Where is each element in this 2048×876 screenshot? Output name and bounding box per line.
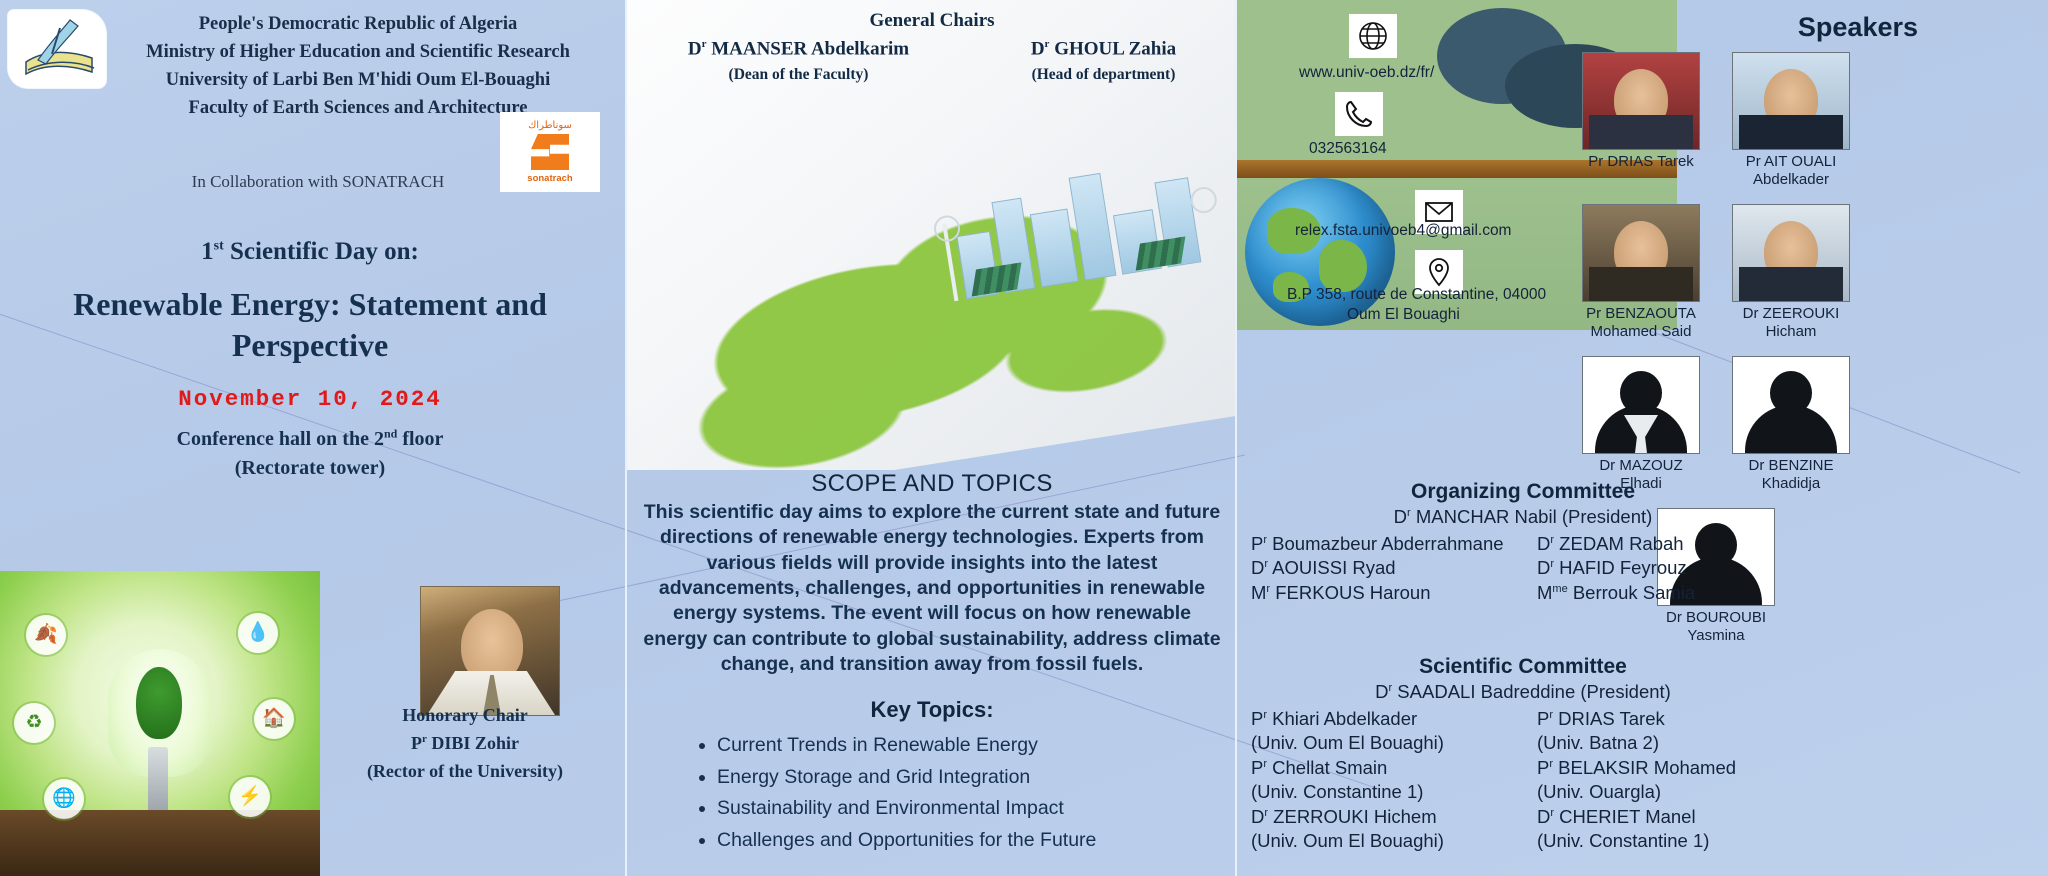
member-affiliation: (Univ. Oum El Bouaghi) bbox=[1251, 829, 1525, 853]
speaker-card[interactable]: Dr ZEEROUKI Hicham bbox=[1732, 204, 1850, 340]
sci-pres-prefix: D bbox=[1375, 681, 1388, 702]
avatar bbox=[1732, 356, 1850, 454]
avatar-body bbox=[1589, 115, 1693, 149]
wind-turbine-icon bbox=[1199, 195, 1213, 261]
portrait-photo bbox=[1733, 205, 1849, 301]
avatar bbox=[1582, 204, 1700, 302]
member-row: Pr BELAKSIR Mohamed bbox=[1537, 756, 1813, 780]
tree-icon bbox=[136, 667, 182, 739]
speaker-name: Pr AIT OUALI Abdelkader bbox=[1732, 153, 1850, 188]
chair-2-name: Dr GHOUL Zahia bbox=[1031, 38, 1176, 60]
member-row: Dr ZERROUKI Hichem bbox=[1251, 805, 1525, 829]
list-item: Energy Storage and Grid Integration bbox=[717, 762, 1227, 794]
speakers-title: Speakers bbox=[1798, 12, 1918, 43]
general-chairs-title: General Chairs bbox=[627, 10, 1237, 32]
avatar bbox=[1582, 356, 1700, 454]
building bbox=[1030, 208, 1079, 287]
title-line-1: Renewable Energy: Statement and bbox=[30, 284, 590, 325]
member-affiliation: (Univ. Batna 2) bbox=[1537, 731, 1813, 755]
middle-column: General Chairs Dr MAANSER Abdelkarim (De… bbox=[625, 0, 1235, 876]
member-row: Dr AOUISSI Ryad bbox=[1251, 556, 1525, 580]
address-line-2: Oum El Bouaghi bbox=[1347, 306, 1460, 324]
avatar-body bbox=[1739, 267, 1843, 301]
honorary-chair-name: Pr DIBI Zohir bbox=[300, 730, 630, 758]
speaker-name: Pr BENZAOUTA Mohamed Said bbox=[1582, 305, 1700, 340]
event-venue: Conference hall on the 2nd floor (Rector… bbox=[40, 425, 580, 483]
plug-icon: ⚡ bbox=[230, 777, 270, 817]
scientific-committee-title: Scientific Committee bbox=[1243, 655, 1803, 679]
member-affiliation: (Univ. Oum El Bouaghi) bbox=[1251, 731, 1525, 755]
speaker-card[interactable]: Dr MAZOUZ Elhadi bbox=[1582, 356, 1700, 492]
list-item: Sustainability and Environmental Impact bbox=[717, 793, 1227, 825]
venue-ordinal: nd bbox=[384, 426, 397, 440]
recycle-icon: ♻ bbox=[14, 703, 54, 743]
chair-1-name-text: MAANSER Abdelkarim bbox=[706, 38, 909, 59]
portrait-photo bbox=[1583, 53, 1699, 149]
day-ordinal-suffix: st bbox=[214, 239, 224, 254]
scientific-members-right: Pr DRIAS Tarek (Univ. Batna 2) Pr BELAKS… bbox=[1525, 707, 1813, 853]
header-line-3: University of Larbi Ben M'hidi Oum El-Bo… bbox=[108, 66, 608, 94]
organizing-members: Pr Boumazbeur Abderrahmane Dr AOUISSI Ry… bbox=[1237, 532, 1813, 605]
sonatrach-mark-icon bbox=[531, 134, 569, 170]
venue-line-1: Conference hall on the 2nd floor bbox=[40, 425, 580, 454]
chair-1-role: (Dean of the Faculty) bbox=[688, 66, 909, 84]
portrait-photo bbox=[1733, 53, 1849, 149]
honorary-chair-block: Honorary Chair Pr DIBI Zohir (Rector of … bbox=[300, 702, 630, 786]
collaboration-text: In Collaboration with SONATRACH bbox=[108, 172, 528, 192]
organizing-members-left: Pr Boumazbeur Abderrahmane Dr AOUISSI Ry… bbox=[1237, 532, 1525, 605]
conference-poster: People's Democratic Republic of Algeria … bbox=[0, 0, 2048, 876]
avatar-body bbox=[1589, 267, 1693, 301]
avatar bbox=[1582, 52, 1700, 150]
org-pres-prefix: D bbox=[1394, 506, 1407, 527]
landmass bbox=[1319, 240, 1367, 292]
honorary-chair-photo bbox=[420, 586, 560, 716]
list-item: Current Trends in Renewable Energy bbox=[717, 730, 1227, 762]
website-text[interactable]: www.univ-oeb.dz/fr/ bbox=[1299, 64, 1434, 82]
member-row: Dr CHERIET Manel bbox=[1537, 805, 1813, 829]
event-date: November 10, 2024 bbox=[40, 386, 580, 412]
chair-1-name: Dr MAANSER Abdelkarim bbox=[688, 38, 909, 60]
speaker-card[interactable]: Pr BENZAOUTA Mohamed Said bbox=[1582, 204, 1700, 340]
globe-icon bbox=[1349, 14, 1397, 58]
institution-header: People's Democratic Republic of Algeria … bbox=[108, 10, 608, 122]
key-topics-list: Current Trends in Renewable Energy Energ… bbox=[687, 730, 1227, 856]
general-chairs-row: Dr MAANSER Abdelkarim (Dean of the Facul… bbox=[627, 38, 1237, 84]
renewable-energy-illustration: 🍂 💧 ♻ 🏠 🌐 ⚡ bbox=[0, 571, 320, 876]
speaker-card[interactable]: Pr AIT OUALI Abdelkader bbox=[1732, 52, 1850, 188]
key-topics-title: Key Topics: bbox=[627, 697, 1237, 723]
general-chair-2: Dr GHOUL Zahia (Head of department) bbox=[1031, 38, 1176, 84]
right-column: www.univ-oeb.dz/fr/ 032563164 relex.fsta… bbox=[1235, 0, 2048, 876]
honorary-name-text: DIBI Zohir bbox=[427, 733, 519, 753]
honorary-chair-label: Honorary Chair bbox=[300, 702, 630, 730]
general-chair-1: Dr MAANSER Abdelkarim (Dean of the Facul… bbox=[688, 38, 909, 84]
page-title: Renewable Energy: Statement and Perspect… bbox=[30, 284, 590, 366]
day-text: Scientific Day on: bbox=[224, 238, 419, 265]
org-pres-name: MANCHAR Nabil (President) bbox=[1411, 506, 1653, 527]
member-row: Dr ZEDAM Rabah bbox=[1537, 532, 1813, 556]
header-line-1: People's Democratic Republic of Algeria bbox=[108, 10, 608, 38]
chair-2-role: (Head of department) bbox=[1031, 66, 1176, 84]
scope-body: This scientific day aims to explore the … bbox=[641, 500, 1223, 677]
venue-suffix: floor bbox=[397, 428, 443, 450]
list-item: Challenges and Opportunities for the Fut… bbox=[717, 825, 1227, 857]
chair-2-name-text: GHOUL Zahia bbox=[1049, 38, 1176, 59]
honorary-chair-role: (Rector of the University) bbox=[300, 758, 630, 786]
bulb-stem bbox=[148, 747, 168, 815]
email-text[interactable]: relex.fsta.univoeb4@gmail.com bbox=[1295, 222, 1511, 240]
scope-title: SCOPE AND TOPICS bbox=[627, 470, 1237, 498]
droplet-icon: 💧 bbox=[238, 613, 278, 653]
organizing-members-right: Dr ZEDAM Rabah Dr HAFID Feyrouz Mme Berr… bbox=[1525, 532, 1813, 605]
member-row: Pr Boumazbeur Abderrahmane bbox=[1251, 532, 1525, 556]
day-number: 1 bbox=[201, 238, 214, 265]
globe-icon: 🌐 bbox=[44, 779, 84, 819]
member-row: Pr Chellat Smain bbox=[1251, 756, 1525, 780]
speaker-card[interactable]: Dr BENZINE Khadidja bbox=[1732, 356, 1850, 492]
member-row: Mr FERKOUS Haroun bbox=[1251, 581, 1525, 605]
left-column: People's Democratic Republic of Algeria … bbox=[0, 0, 625, 876]
header-line-2: Ministry of Higher Education and Scienti… bbox=[108, 38, 608, 66]
scientific-members: Pr Khiari Abdelkader (Univ. Oum El Bouag… bbox=[1237, 707, 1813, 853]
sci-pres-name: SAADALI Badreddine (President) bbox=[1392, 681, 1671, 702]
avatar bbox=[1732, 52, 1850, 150]
chair-1-prefix: D bbox=[688, 38, 702, 59]
speaker-name: Dr BOUROUBI Yasmina bbox=[1657, 609, 1775, 644]
member-row: Dr HAFID Feyrouz bbox=[1537, 556, 1813, 580]
sonatrach-arabic: سوناطراك bbox=[528, 120, 572, 131]
phone-icon bbox=[1335, 92, 1383, 136]
sonatrach-latin: sonatrach bbox=[527, 173, 572, 184]
speaker-card[interactable]: Pr DRIAS Tarek bbox=[1582, 52, 1700, 171]
honorary-prefix: P bbox=[411, 733, 422, 753]
member-row: Pr DRIAS Tarek bbox=[1537, 707, 1813, 731]
address-line-1: B.P 358, route de Constantine, 04000 bbox=[1287, 286, 1546, 304]
organizing-president: Dr MANCHAR Nabil (President) bbox=[1243, 506, 1803, 528]
speaker-name: Pr DRIAS Tarek bbox=[1582, 153, 1700, 171]
silhouette-body-icon bbox=[1745, 405, 1837, 453]
member-affiliation: (Univ. Constantine 1) bbox=[1537, 829, 1813, 853]
venue-prefix: Conference hall on the 2 bbox=[177, 428, 384, 450]
chair-2-prefix: D bbox=[1031, 38, 1045, 59]
member-affiliation: (Univ. Ouargla) bbox=[1537, 780, 1813, 804]
avatar-body bbox=[1739, 115, 1843, 149]
organizing-committee-title: Organizing Committee bbox=[1243, 480, 1803, 504]
wind-turbine-icon bbox=[942, 224, 958, 302]
member-row: Pr Khiari Abdelkader bbox=[1251, 707, 1525, 731]
speaker-name: Dr ZEEROUKI Hicham bbox=[1732, 305, 1850, 340]
university-logo bbox=[8, 10, 106, 88]
avatar bbox=[1732, 204, 1850, 302]
portrait-photo bbox=[1583, 205, 1699, 301]
soil bbox=[0, 810, 320, 876]
member-affiliation: (Univ. Constantine 1) bbox=[1251, 780, 1525, 804]
sonatrach-logo: سوناطراك sonatrach bbox=[500, 112, 600, 192]
member-row: Mme Berrouk Samia bbox=[1537, 581, 1813, 605]
venue-line-2: (Rectorate tower) bbox=[40, 454, 580, 483]
title-line-2: Perspective bbox=[30, 325, 590, 366]
scientific-president: Dr SAADALI Badreddine (President) bbox=[1243, 681, 1803, 703]
scientific-members-left: Pr Khiari Abdelkader (Univ. Oum El Bouag… bbox=[1237, 707, 1525, 853]
event-ordinal-label: 1st Scientific Day on: bbox=[40, 238, 580, 266]
leaf-icon: 🍂 bbox=[26, 615, 66, 655]
phone-text: 032563164 bbox=[1309, 140, 1387, 158]
house-icon: 🏠 bbox=[254, 699, 294, 739]
